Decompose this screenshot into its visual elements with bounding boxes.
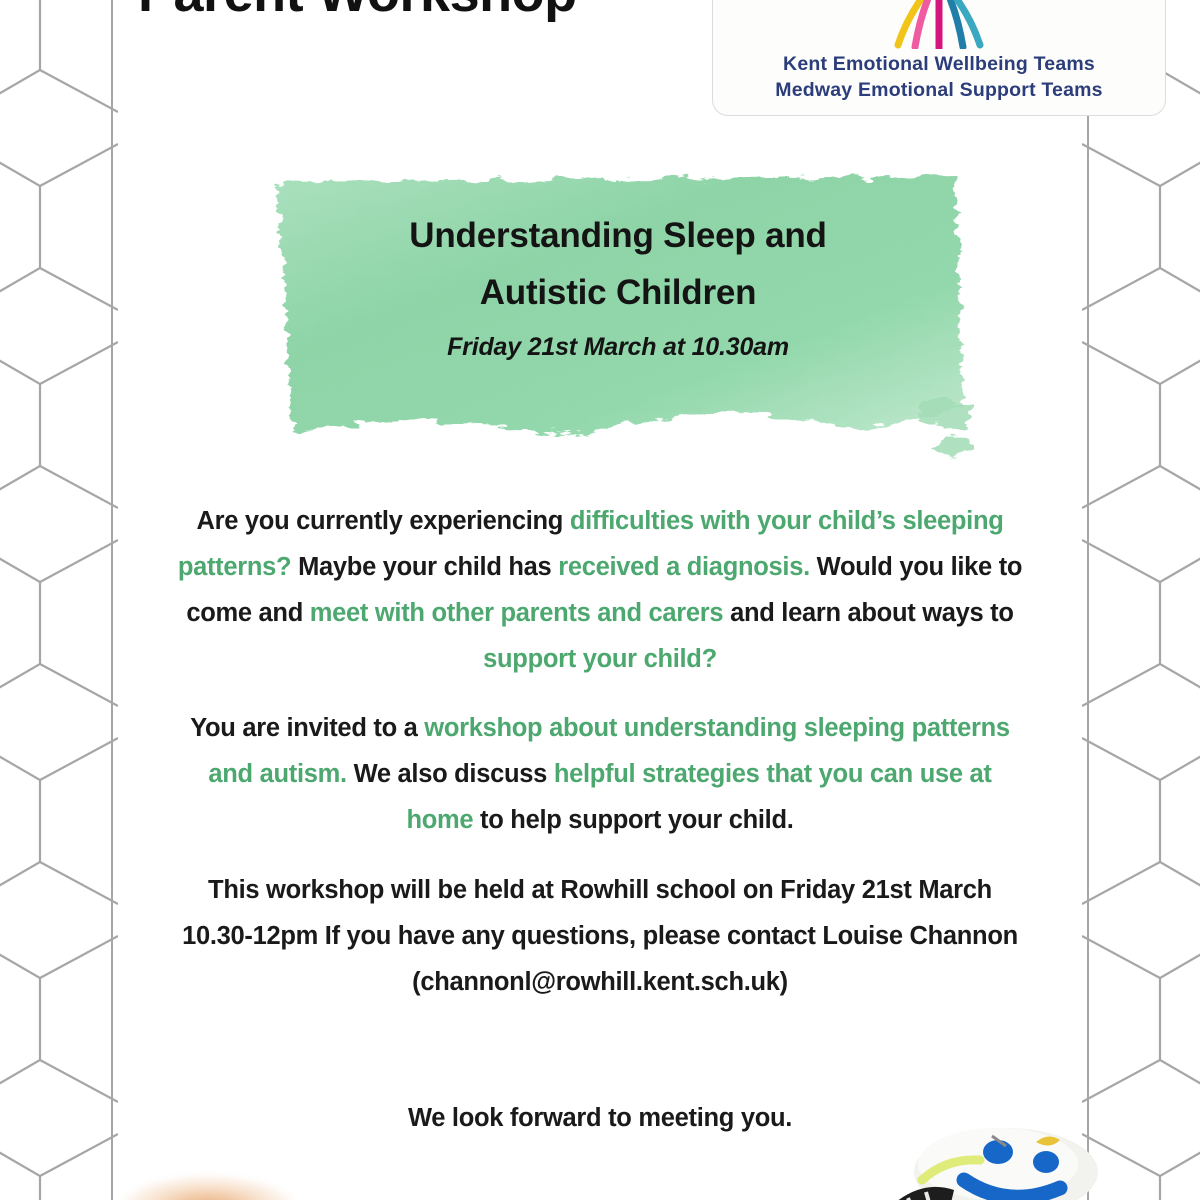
banner-text-block: Understanding Sleep and Autistic Childre… bbox=[262, 208, 974, 362]
organisation-logo-box: Kent Emotional Wellbeing Teams Medway Em… bbox=[712, 0, 1166, 116]
banner-date-time: Friday 21st March at 10.30am bbox=[262, 333, 974, 362]
plain-text-run: We also discuss bbox=[347, 760, 554, 788]
plain-text-run: and learn about ways to bbox=[723, 599, 1013, 627]
plain-text-run: You are invited to a bbox=[190, 714, 424, 742]
banner-heading-line-2: Autistic Children bbox=[262, 265, 974, 322]
accent-text-run: received a diagnosis. bbox=[558, 553, 810, 581]
orange-paint-smudge-image bbox=[118, 1174, 298, 1200]
paragraph-1: Are you currently experiencing difficult… bbox=[176, 498, 1024, 683]
kent-medway-fan-logo-icon bbox=[864, 0, 1014, 49]
logo-text-line-1: Kent Emotional Wellbeing Teams bbox=[783, 51, 1095, 77]
logo-text-line-2: Medway Emotional Support Teams bbox=[775, 77, 1102, 103]
plain-text-run: to help support your child. bbox=[473, 806, 793, 834]
hexagon-border-left bbox=[0, 0, 118, 1200]
accent-text-run: meet with other parents and carers bbox=[310, 599, 724, 627]
plain-text-run: Are you currently experiencing bbox=[197, 507, 570, 535]
painted-stone-image bbox=[886, 1076, 1116, 1200]
poster-page: Parent Workshop Kent Emotional Wellbeing… bbox=[0, 0, 1200, 1200]
body-copy: Are you currently experiencing difficult… bbox=[176, 498, 1024, 1019]
accent-text-run: support your child? bbox=[483, 645, 717, 673]
hexagon-border-right bbox=[1082, 0, 1200, 1200]
page-title: Parent Workshop bbox=[138, 0, 577, 20]
banner-heading-line-1: Understanding Sleep and bbox=[262, 208, 974, 265]
paragraph-3: This workshop will be held at Rowhill sc… bbox=[176, 867, 1024, 1005]
plain-text-run: This workshop will be held at Rowhill sc… bbox=[182, 876, 1018, 996]
green-brush-banner: Understanding Sleep and Autistic Childre… bbox=[262, 168, 974, 468]
paragraph-2: You are invited to a workshop about unde… bbox=[176, 705, 1024, 843]
plain-text-run: Maybe your child has bbox=[291, 553, 558, 581]
